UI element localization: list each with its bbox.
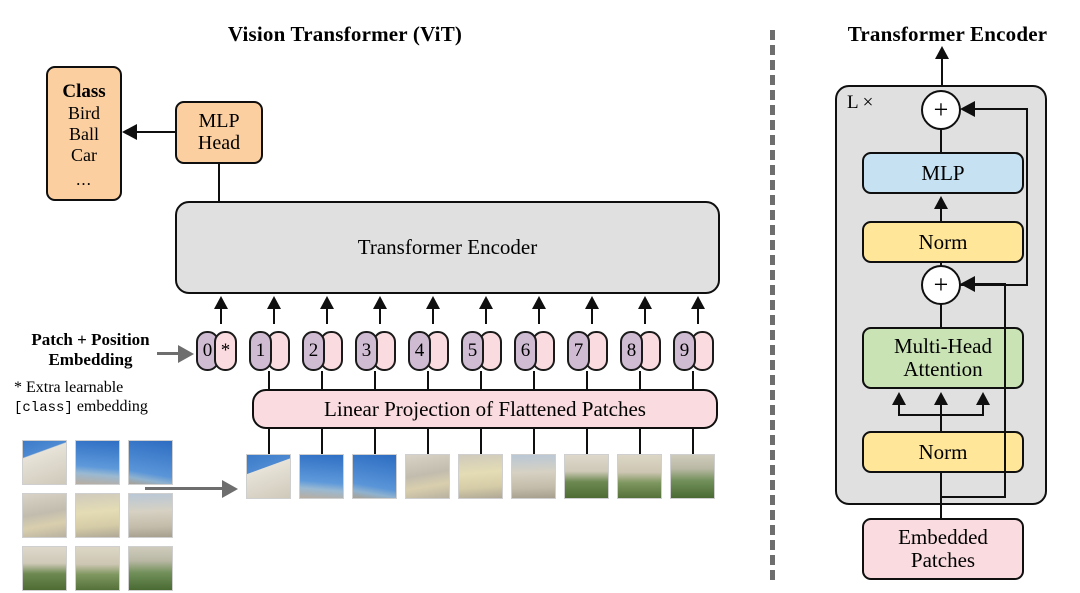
class-item-car: Car xyxy=(71,145,97,166)
class-output-capsule: Class Bird Ball Car ... xyxy=(46,66,122,201)
encoder-output-arrowhead xyxy=(935,46,949,59)
footnote-line2: [class] embedding xyxy=(14,397,204,417)
class-item-ball: Ball xyxy=(69,124,99,145)
attention-line1: Multi-Head xyxy=(894,335,992,358)
token-6: 6 xyxy=(514,331,555,371)
grid-to-strip-line xyxy=(145,487,223,490)
flattened-patch-5 xyxy=(458,454,503,499)
class-heading: Class xyxy=(62,81,105,103)
norm-top-label: Norm xyxy=(919,231,968,254)
mlp-head-to-encoder-line xyxy=(218,163,220,202)
token-5: 5 xyxy=(461,331,502,371)
attention-line2: Attention xyxy=(903,358,982,381)
token-7-index: 7 xyxy=(567,331,590,371)
flattened-patch-9 xyxy=(670,454,715,499)
token-5-index: 5 xyxy=(461,331,484,371)
mlp-to-class-line xyxy=(137,131,177,133)
token-8-index: 8 xyxy=(620,331,643,371)
residual-add-bottom: + xyxy=(921,265,961,305)
flattened-patch-2 xyxy=(299,454,344,499)
flattened-patch-6 xyxy=(511,454,556,499)
source-patch-r2c2 xyxy=(75,493,120,538)
class-ellipsis: ... xyxy=(76,166,92,188)
flattened-patch-3 xyxy=(352,454,397,499)
encoder-output-line xyxy=(941,56,943,86)
norm-top-to-mlp-line xyxy=(940,207,942,222)
left-panel-title: Vision Transformer (ViT) xyxy=(185,22,505,47)
source-patch-r2c3 xyxy=(128,493,173,538)
token-9: 9 xyxy=(673,331,714,371)
token-4: 4 xyxy=(408,331,449,371)
mlp-to-class-arrowhead xyxy=(122,124,137,140)
norm-top-box: Norm xyxy=(862,221,1024,263)
extra-learnable-footnote: * Extra learnable [class] embedding xyxy=(14,378,204,417)
flattened-patch-8 xyxy=(617,454,662,499)
source-patch-r3c1 xyxy=(22,546,67,591)
mlp-box: MLP xyxy=(862,152,1024,194)
token-3-index: 3 xyxy=(355,331,378,371)
mlp-head-line1: MLP xyxy=(198,111,239,133)
source-patch-r1c1 xyxy=(22,440,67,485)
flattened-patch-7 xyxy=(564,454,609,499)
residual-bottom-line-vert-right xyxy=(1004,283,1006,498)
residual-bottom-arrowhead xyxy=(960,276,975,292)
residual-top-line-horiz-high xyxy=(974,108,1028,110)
embedded-patches-to-encoder-line xyxy=(940,496,942,520)
token-0-star: * xyxy=(214,331,237,371)
footnote-line1: * Extra learnable xyxy=(14,378,204,397)
norm-bottom-label: Norm xyxy=(919,441,968,464)
token-3: 3 xyxy=(355,331,396,371)
source-patch-r1c2 xyxy=(75,440,120,485)
plus-top-to-mlp-line xyxy=(940,128,942,153)
transformer-encoder-label: Transformer Encoder xyxy=(358,236,537,259)
embedded-patches-line2: Patches xyxy=(911,549,975,572)
patch-position-embedding-label: Patch + Position Embedding xyxy=(8,330,173,370)
flattened-patch-4 xyxy=(405,454,450,499)
norm-bottom-box: Norm xyxy=(862,431,1024,473)
token-7: 7 xyxy=(567,331,608,371)
source-patch-r1c3 xyxy=(128,440,173,485)
token-2-index: 2 xyxy=(302,331,325,371)
multi-head-attention-box: Multi-Head Attention xyxy=(862,327,1024,389)
residual-top-arrowhead xyxy=(960,101,975,117)
grid-to-strip-arrowhead xyxy=(222,480,238,498)
class-token-mono: [class] xyxy=(14,400,73,416)
token-6-index: 6 xyxy=(514,331,537,371)
class-item-bird: Bird xyxy=(68,103,100,124)
mlp-label: MLP xyxy=(921,162,964,185)
mlp-head-box: MLP Head xyxy=(175,101,263,164)
linear-projection-label: Linear Projection of Flattened Patches xyxy=(324,398,646,421)
flattened-patch-1 xyxy=(246,454,291,499)
residual-top-line-vert-right xyxy=(1026,108,1028,286)
token-8: 8 xyxy=(620,331,661,371)
patch-position-arrow-line xyxy=(157,352,179,355)
residual-bottom-line-horiz-high xyxy=(974,283,1006,285)
repeat-count-label: L × xyxy=(847,92,873,114)
source-patch-r3c2 xyxy=(75,546,120,591)
residual-add-top: + xyxy=(921,90,961,130)
mlp-head-line2: Head xyxy=(198,133,240,155)
residual-bottom-line-horiz-low xyxy=(940,496,1006,498)
token-4-index: 4 xyxy=(408,331,431,371)
vit-architecture-diagram: Vision Transformer (ViT) Class Bird Ball… xyxy=(0,0,1080,593)
norm-top-to-mlp-arrowhead xyxy=(934,196,948,209)
footnote-line2-tail: embedding xyxy=(73,398,148,415)
embedded-patches-box: Embedded Patches xyxy=(862,518,1024,580)
patch-position-line2: Embedding xyxy=(8,350,173,370)
source-patch-r3c3 xyxy=(128,546,173,591)
token-0: 0 * xyxy=(196,331,237,371)
embedded-patches-line1: Embedded xyxy=(898,526,988,549)
token-9-index: 9 xyxy=(673,331,696,371)
plus-bottom-to-attention-line xyxy=(940,303,942,328)
token-1: 1 xyxy=(249,331,290,371)
patch-position-arrowhead xyxy=(178,345,194,363)
token-1-index: 1 xyxy=(249,331,272,371)
right-panel-title: Transformer Encoder xyxy=(820,22,1075,47)
token-2: 2 xyxy=(302,331,343,371)
transformer-encoder-box: Transformer Encoder xyxy=(175,201,720,294)
patch-position-line1: Patch + Position xyxy=(8,330,173,350)
source-patch-r2c1 xyxy=(22,493,67,538)
linear-projection-box: Linear Projection of Flattened Patches xyxy=(252,389,718,429)
panel-divider xyxy=(770,30,775,580)
